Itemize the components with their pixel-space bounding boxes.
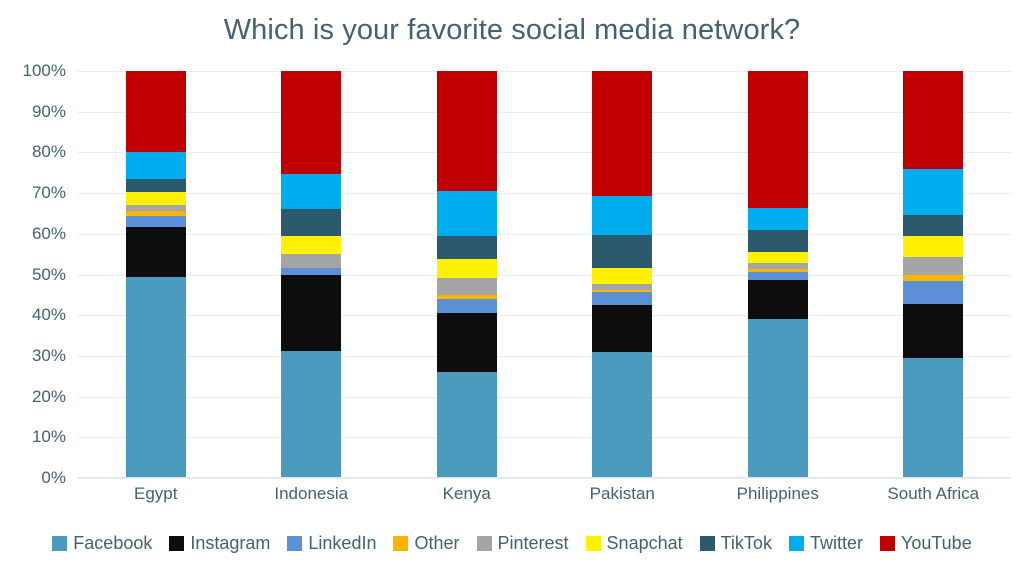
legend-item-tiktok[interactable]: TikTok	[700, 533, 772, 554]
bar-segment-facebook[interactable]	[748, 319, 808, 478]
legend-label: Facebook	[73, 533, 152, 554]
legend-swatch-icon	[287, 536, 302, 551]
bar-segment-tiktok[interactable]	[903, 215, 963, 236]
chart-legend: FacebookInstagramLinkedInOtherPinterestS…	[0, 533, 1024, 554]
bar-group[interactable]	[437, 71, 497, 478]
bar-segment-facebook[interactable]	[126, 277, 186, 478]
bar-group[interactable]	[281, 71, 341, 478]
bar-segment-tiktok[interactable]	[281, 209, 341, 236]
bar-segment-pinterest[interactable]	[748, 263, 808, 270]
legend-swatch-icon	[477, 536, 492, 551]
bar-segment-snapchat[interactable]	[281, 236, 341, 254]
bar-segment-linkedin[interactable]	[126, 216, 186, 227]
legend-label: Twitter	[810, 533, 863, 554]
y-axis-tick-label: 80%	[32, 142, 66, 162]
bar-segment-snapchat[interactable]	[437, 259, 497, 279]
x-axis-tick-label: South Africa	[887, 484, 979, 504]
bar-segment-pinterest[interactable]	[437, 278, 497, 295]
bar-segment-youtube[interactable]	[281, 71, 341, 174]
legend-label: LinkedIn	[308, 533, 376, 554]
x-axis-tick-label: Indonesia	[274, 484, 348, 504]
bar-segment-youtube[interactable]	[437, 71, 497, 191]
legend-item-twitter[interactable]: Twitter	[789, 533, 863, 554]
legend-label: Snapchat	[607, 533, 683, 554]
bar-segment-instagram[interactable]	[281, 275, 341, 350]
bar-segment-linkedin[interactable]	[437, 299, 497, 312]
gridline	[78, 478, 1011, 479]
bar-group[interactable]	[592, 71, 652, 478]
bar-segment-tiktok[interactable]	[748, 230, 808, 252]
bar-segment-other[interactable]	[437, 295, 497, 299]
bar-segment-pinterest[interactable]	[592, 284, 652, 290]
legend-label: YouTube	[901, 533, 972, 554]
stacked-bar[interactable]	[437, 71, 497, 478]
stacked-bar[interactable]	[281, 71, 341, 478]
bar-segment-snapchat[interactable]	[748, 252, 808, 263]
legend-swatch-icon	[393, 536, 408, 551]
axis-baseline	[78, 477, 1011, 478]
legend-swatch-icon	[789, 536, 804, 551]
bar-group[interactable]	[748, 71, 808, 478]
bar-group[interactable]	[903, 71, 963, 478]
legend-swatch-icon	[880, 536, 895, 551]
bar-segment-linkedin[interactable]	[903, 281, 963, 304]
bar-segment-snapchat[interactable]	[592, 268, 652, 284]
legend-item-snapchat[interactable]: Snapchat	[586, 533, 683, 554]
y-axis-tick-label: 20%	[32, 387, 66, 407]
legend-item-facebook[interactable]: Facebook	[52, 533, 152, 554]
bar-segment-instagram[interactable]	[748, 280, 808, 319]
bar-segment-twitter[interactable]	[748, 208, 808, 230]
legend-item-other[interactable]: Other	[393, 533, 459, 554]
x-axis-tick-label: Pakistan	[590, 484, 655, 504]
bars-layer	[78, 71, 1011, 478]
bar-segment-other[interactable]	[592, 290, 652, 292]
chart-title: Which is your favorite social media netw…	[0, 14, 1024, 47]
bar-segment-youtube[interactable]	[903, 71, 963, 169]
bar-segment-snapchat[interactable]	[126, 192, 186, 205]
legend-item-linkedin[interactable]: LinkedIn	[287, 533, 376, 554]
chart-container: Which is your favorite social media netw…	[0, 0, 1024, 575]
bar-segment-other[interactable]	[903, 275, 963, 282]
bar-segment-instagram[interactable]	[437, 313, 497, 372]
y-axis-tick-label: 60%	[32, 224, 66, 244]
stacked-bar[interactable]	[748, 71, 808, 478]
y-axis-tick-label: 90%	[32, 102, 66, 122]
y-axis-tick-label: 40%	[32, 305, 66, 325]
y-axis-tick-label: 100%	[23, 61, 66, 81]
legend-item-youtube[interactable]: YouTube	[880, 533, 972, 554]
x-axis-tick-label: Kenya	[443, 484, 491, 504]
bar-segment-tiktok[interactable]	[592, 235, 652, 268]
y-axis-tick-label: 70%	[32, 183, 66, 203]
y-axis-tick-label: 10%	[32, 427, 66, 447]
bar-segment-instagram[interactable]	[126, 227, 186, 277]
stacked-bar[interactable]	[903, 71, 963, 478]
bar-segment-twitter[interactable]	[437, 191, 497, 236]
bar-segment-twitter[interactable]	[126, 152, 186, 179]
legend-label: Instagram	[190, 533, 270, 554]
x-axis-tick-label: Egypt	[134, 484, 177, 504]
stacked-bar[interactable]	[126, 71, 186, 478]
legend-swatch-icon	[169, 536, 184, 551]
x-axis-tick-label: Philippines	[737, 484, 819, 504]
bar-segment-linkedin[interactable]	[281, 268, 341, 275]
y-axis-tick-label: 0%	[41, 468, 66, 488]
bar-segment-pinterest[interactable]	[903, 257, 963, 275]
x-axis: EgyptIndonesiaKenyaPakistanPhilippinesSo…	[78, 484, 1011, 514]
legend-item-instagram[interactable]: Instagram	[169, 533, 270, 554]
bar-segment-pinterest[interactable]	[126, 205, 186, 211]
legend-swatch-icon	[700, 536, 715, 551]
legend-label: Other	[414, 533, 459, 554]
bar-segment-twitter[interactable]	[903, 169, 963, 215]
legend-label: TikTok	[721, 533, 772, 554]
legend-item-pinterest[interactable]: Pinterest	[477, 533, 569, 554]
bar-segment-youtube[interactable]	[748, 71, 808, 208]
bar-segment-other[interactable]	[126, 211, 186, 216]
legend-swatch-icon	[586, 536, 601, 551]
bar-segment-tiktok[interactable]	[126, 179, 186, 192]
bar-segment-twitter[interactable]	[592, 196, 652, 235]
legend-label: Pinterest	[498, 533, 569, 554]
bar-segment-youtube[interactable]	[592, 71, 652, 196]
bar-segment-pinterest[interactable]	[281, 254, 341, 268]
bar-segment-facebook[interactable]	[281, 351, 341, 478]
bar-segment-facebook[interactable]	[437, 372, 497, 478]
y-axis-tick-label: 30%	[32, 346, 66, 366]
plot-area	[78, 71, 1011, 478]
bar-segment-tiktok[interactable]	[437, 236, 497, 259]
bar-segment-linkedin[interactable]	[592, 292, 652, 305]
bar-segment-linkedin[interactable]	[748, 272, 808, 279]
bar-segment-facebook[interactable]	[903, 358, 963, 478]
bar-segment-instagram[interactable]	[903, 304, 963, 357]
bar-group[interactable]	[126, 71, 186, 478]
bar-segment-snapchat[interactable]	[903, 236, 963, 258]
legend-swatch-icon	[52, 536, 67, 551]
stacked-bar[interactable]	[592, 71, 652, 478]
y-axis-tick-label: 50%	[32, 265, 66, 285]
bar-segment-facebook[interactable]	[592, 352, 652, 478]
bar-segment-twitter[interactable]	[281, 174, 341, 209]
bar-segment-instagram[interactable]	[592, 305, 652, 352]
y-axis: 0%10%20%30%40%50%60%70%80%90%100%	[0, 71, 72, 478]
bar-segment-youtube[interactable]	[126, 71, 186, 152]
bar-segment-other[interactable]	[748, 269, 808, 272]
